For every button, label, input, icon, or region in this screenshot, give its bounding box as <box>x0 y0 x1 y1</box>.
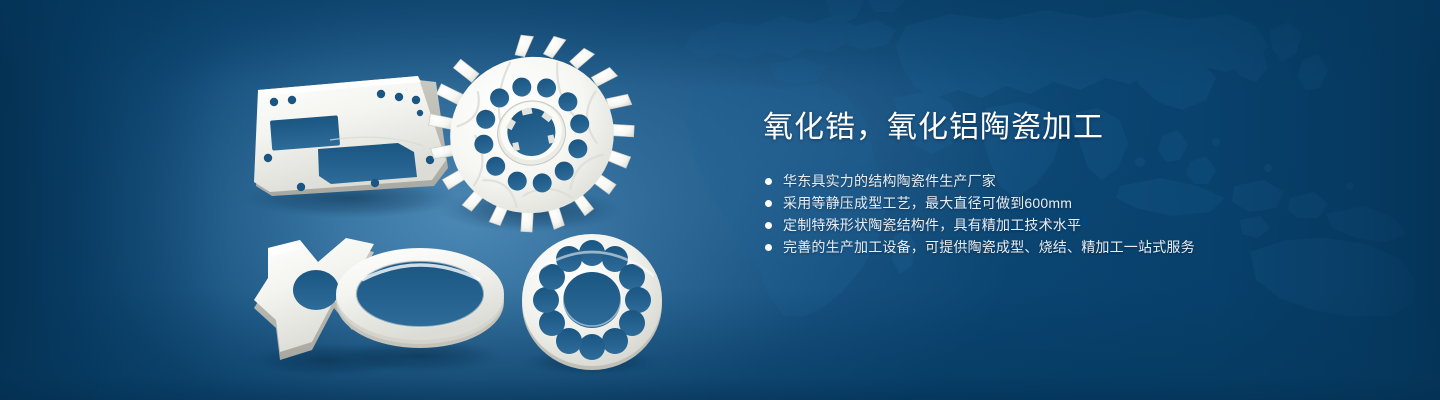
product-ceramic-flat-plate <box>240 76 460 218</box>
feature-item-4: 完善的生产加工设备，可提供陶瓷成型、烧结、精加工一站式服务 <box>765 236 1363 258</box>
feature-item-1: 华东具实力的结构陶瓷件生产厂家 <box>765 170 1363 192</box>
bullet-dot-icon <box>765 244 772 251</box>
bullet-dot-icon <box>765 222 772 229</box>
product-ceramic-impeller-disc <box>411 16 653 252</box>
feature-item-2-label: 采用等静压成型工艺，最大直径可做到600mm <box>783 192 1072 214</box>
bullet-dot-icon <box>765 178 772 185</box>
feature-item-4-label: 完善的生产加工设备，可提供陶瓷成型、烧结、精加工一站式服务 <box>783 236 1195 258</box>
feature-item-2: 采用等静压成型工艺，最大直径可做到600mm <box>765 192 1363 214</box>
banner-copy: 氧化锆，氧化铝陶瓷加工 华东具实力的结构陶瓷件生产厂家 采用等静压成型工艺，最大… <box>763 108 1363 258</box>
banner-headline: 氧化锆，氧化铝陶瓷加工 <box>763 108 1363 148</box>
hero-banner: 氧化锆，氧化铝陶瓷加工 华东具实力的结构陶瓷件生产厂家 采用等静压成型工艺，最大… <box>0 0 1440 400</box>
feature-item-3: 定制特殊形状陶瓷结构件，具有精加工技术水平 <box>765 214 1363 236</box>
bullet-dot-icon <box>765 200 772 207</box>
banner-feature-list: 华东具实力的结构陶瓷件生产厂家 采用等静压成型工艺，最大直径可做到600mm 定… <box>763 170 1363 258</box>
product-ceramic-perforated-disc <box>522 234 662 376</box>
product-photo-cluster <box>0 0 720 400</box>
feature-item-3-label: 定制特殊形状陶瓷结构件，具有精加工技术水平 <box>783 214 1081 236</box>
feature-item-1-label: 华东具实力的结构陶瓷件生产厂家 <box>783 170 996 192</box>
product-ceramic-ring <box>336 248 504 373</box>
